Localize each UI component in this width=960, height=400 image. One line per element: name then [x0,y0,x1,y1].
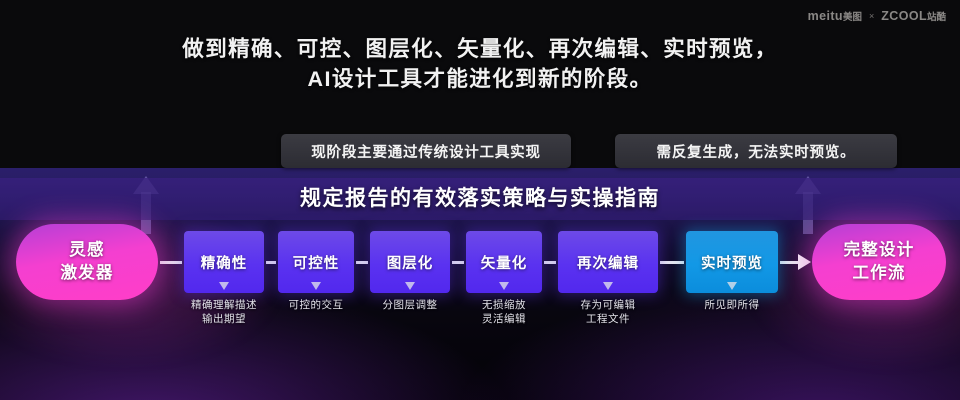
brand-separator-icon: × [869,11,874,21]
connector-line [356,261,368,264]
brand-meitu-cn: 美图 [843,12,862,23]
flow-diagram: 灵感 激发器 精确性 可控性 图层化 矢量化 再次编辑 实时预览 完整设计 工作… [0,224,960,304]
caption-box-left: 现阶段主要通过传统设计工具实现 [281,134,571,168]
flow-node-complete-workflow: 完整设计 工作流 [812,224,946,300]
flow-node-label: 工作流 [852,262,905,285]
brand-meitu-latin: meitu [808,9,843,23]
flow-node-label: 可控性 [293,252,340,273]
down-tick-icon [311,282,321,290]
connector-arrowhead-icon [798,254,811,270]
flow-node-label: 完整设计 [844,239,915,262]
headline-line-2: AI设计工具才能进化到新的阶段。 [0,64,960,94]
connector-line [452,261,464,264]
connector-line [780,261,800,264]
flow-sublabel-line: 输出期望 [176,312,272,326]
flow-node-label: 灵感 [69,239,104,262]
flow-sublabel-line: 工程文件 [562,312,654,326]
connector-line [266,261,276,264]
flow-sublabel: 精确理解描述 输出期望 [176,298,272,326]
flow-sublabel-line: 灵活编辑 [462,312,546,326]
brand-zcool-cn: 站酷 [927,12,946,23]
flow-sublabel: 所见即所得 [686,298,778,312]
headline-line-1: 做到精确、可控、图层化、矢量化、再次编辑、实时预览， [0,34,960,64]
brand-zcool-latin: ZCOOL [881,9,927,23]
flow-node-label: 实时预览 [701,252,763,273]
flow-sublabel: 分图层调整 [364,298,456,312]
flow-sublabel-line: 无损缩放 [462,298,546,312]
flow-sublabel: 可控的交互 [272,298,360,312]
flow-sublabel-line: 分图层调整 [364,298,456,312]
connector-line [544,261,556,264]
flow-node-label: 精确性 [201,252,248,273]
flow-sublabel: 存为可编辑 工程文件 [562,298,654,326]
flow-sublabel-line: 存为可编辑 [562,298,654,312]
flow-sublabel-line: 可控的交互 [272,298,360,312]
brand-zcool-logo: ZCOOL站酷 [881,9,946,23]
brand-meitu-logo: meitu美图 [808,9,862,23]
down-tick-icon [405,282,415,290]
flow-node-label: 图层化 [387,252,434,273]
flow-node-label: 再次编辑 [577,252,639,273]
connector-line [160,261,182,264]
headline: 做到精确、可控、图层化、矢量化、再次编辑、实时预览， AI设计工具才能进化到新的… [0,34,960,94]
caption-box-right: 需反复生成，无法实时预览。 [615,134,897,168]
slide-canvas: meitu美图 × ZCOOL站酷 做到精确、可控、图层化、矢量化、再次编辑、实… [0,0,960,400]
flow-node-inspiration-trigger: 灵感 激发器 [16,224,158,300]
flow-sublabel: 无损缩放 灵活编辑 [462,298,546,326]
down-tick-icon [499,282,509,290]
down-tick-icon [603,282,613,290]
flow-node-label: 矢量化 [481,252,528,273]
down-tick-icon [219,282,229,290]
overlay-title: 规定报告的有效落实策略与实操指南 [0,182,960,212]
flow-sublabel-line: 精确理解描述 [176,298,272,312]
flow-node-label: 激发器 [60,262,113,285]
brand-lockup: meitu美图 × ZCOOL站酷 [808,9,946,23]
flow-sublabels: 精确理解描述 输出期望 可控的交互 分图层调整 无损缩放 灵活编辑 存为可编辑 … [0,298,960,348]
connector-line [660,261,684,264]
down-tick-icon [727,282,737,290]
flow-sublabel-line: 所见即所得 [686,298,778,312]
